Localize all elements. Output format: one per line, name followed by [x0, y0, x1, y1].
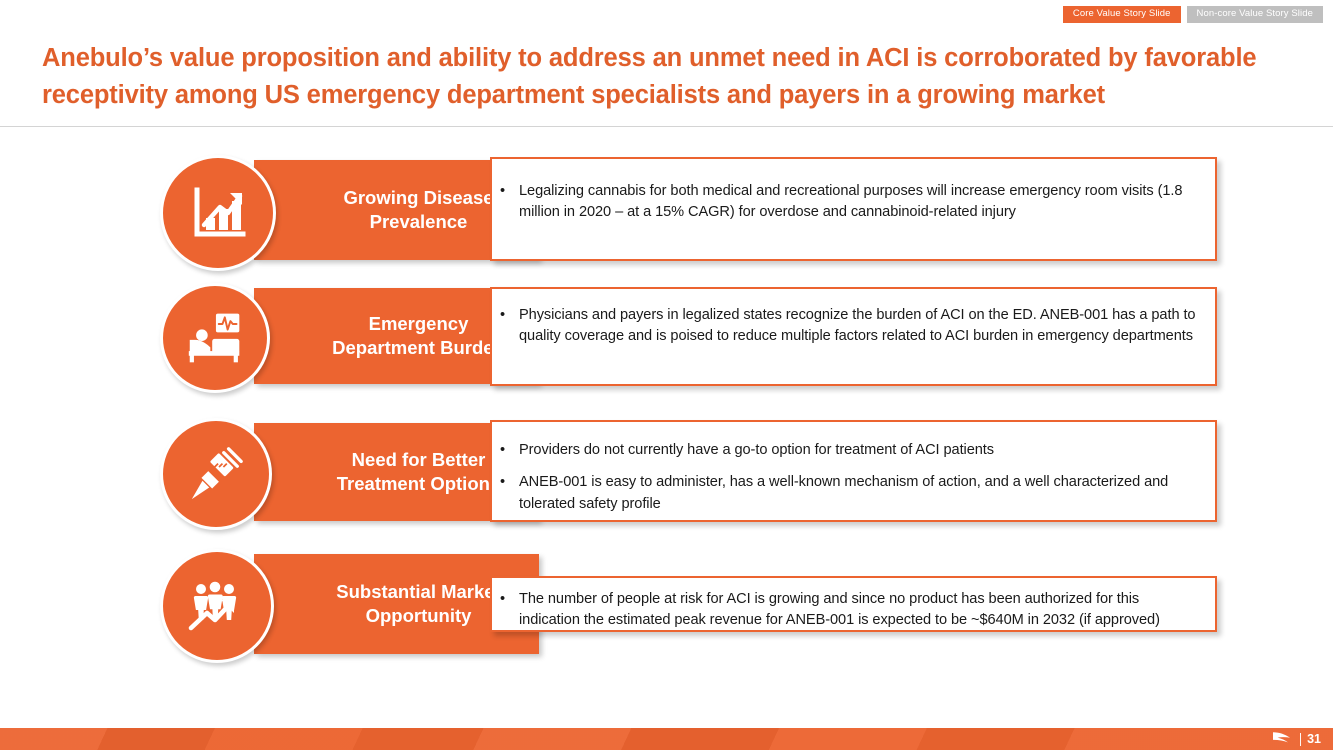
anebulo-wing-logo: [1272, 729, 1294, 749]
bullet-list: • The number of people at risk for ACI i…: [492, 578, 1215, 632]
bullet-dot: •: [500, 181, 505, 202]
hospital-bed-monitor-icon: [160, 283, 270, 393]
bullet-text: Providers do not currently have a go-to …: [519, 442, 994, 458]
footer-logo-and-page: 31: [1272, 728, 1321, 750]
row-text-card: • Physicians and payers in legalized sta…: [490, 287, 1217, 386]
bullet-text: ANEB-001 is easy to administer, has a we…: [519, 474, 1168, 511]
value-story-rows: Growing Disease Prevalence • Legalizing …: [0, 0, 1333, 750]
page-number: 31: [1307, 733, 1321, 746]
footer-divider: [1300, 733, 1302, 746]
bullet-text: Legalizing cannabis for both medical and…: [519, 183, 1182, 220]
bullet-dot: •: [500, 305, 505, 326]
syringe-icon: [160, 418, 272, 530]
row-label-text: Emergency Department Burden: [280, 312, 513, 359]
row-text-card: • Legalizing cannabis for both medical a…: [490, 157, 1217, 261]
list-item: • The number of people at risk for ACI i…: [492, 589, 1197, 632]
row-text-card: • The number of people at risk for ACI i…: [490, 576, 1217, 632]
bar-chart-growth-icon: [160, 155, 276, 271]
list-item: • ANEB-001 is easy to administer, has a …: [492, 472, 1197, 515]
row-label-text: Substantial Market Opportunity: [284, 580, 509, 627]
bullet-list: • Providers do not currently have a go-t…: [492, 422, 1215, 515]
footer-bar: 31: [0, 728, 1333, 750]
bullet-list: • Legalizing cannabis for both medical a…: [492, 159, 1215, 224]
bullet-list: • Physicians and payers in legalized sta…: [492, 289, 1215, 348]
bullet-dot: •: [500, 589, 505, 610]
row-label-text: Growing Disease Prevalence: [291, 186, 501, 233]
list-item: • Providers do not currently have a go-t…: [492, 440, 1197, 461]
list-item: • Legalizing cannabis for both medical a…: [492, 181, 1197, 224]
row-text-card: • Providers do not currently have a go-t…: [490, 420, 1217, 522]
bullet-dot: •: [500, 440, 505, 461]
bullet-text: The number of people at risk for ACI is …: [519, 591, 1160, 628]
bullet-dot: •: [500, 472, 505, 493]
people-growth-arrow-icon: [160, 549, 274, 663]
row-label-text: Need for Better Treatment Options: [285, 448, 508, 495]
bullet-text: Physicians and payers in legalized state…: [519, 307, 1195, 344]
list-item: • Physicians and payers in legalized sta…: [492, 305, 1197, 348]
